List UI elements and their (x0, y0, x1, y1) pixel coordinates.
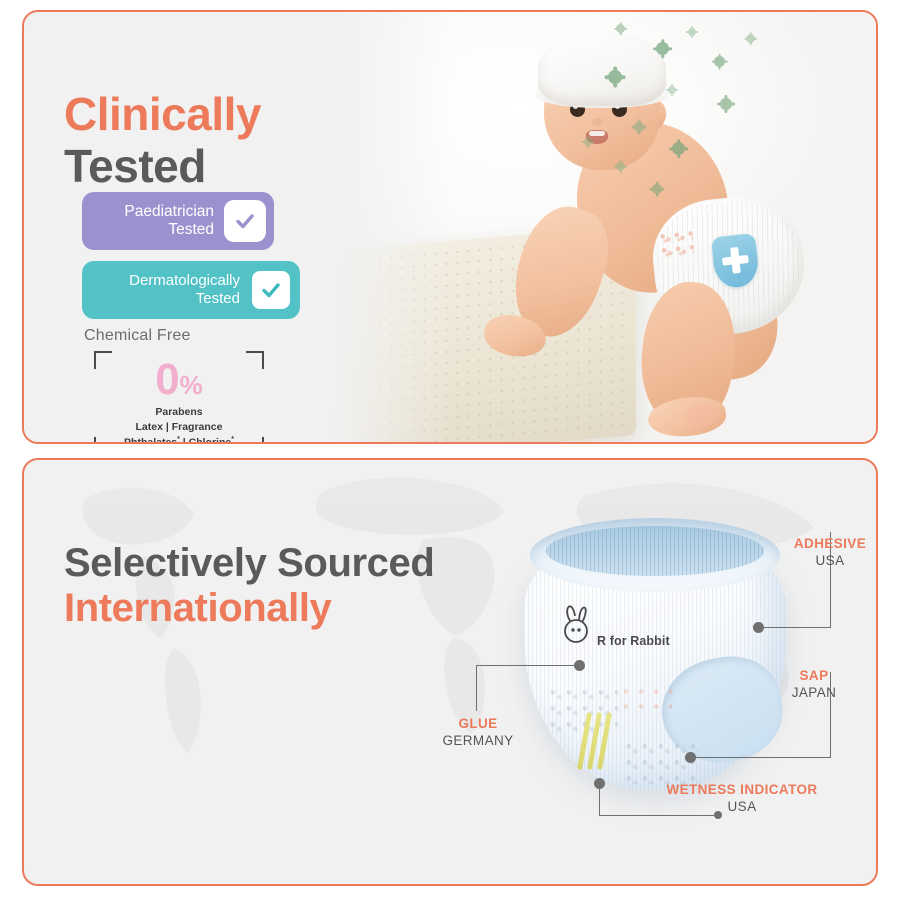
page-title: Clinically Tested (64, 91, 261, 189)
bracket-corner-icon (94, 437, 112, 444)
chemical-item-line-1: Parabens (90, 405, 268, 420)
callout-dot-adhesive (753, 622, 764, 633)
germ-particles (714, 56, 725, 67)
diaper-print (658, 228, 695, 259)
pant-waistband (530, 518, 780, 592)
callout-line-glue (476, 665, 576, 666)
chemical-phthalates: Phthalates (124, 437, 177, 444)
germ-particles (672, 142, 685, 155)
chemical-item-line-3: Phthalates* | Chlorine* (90, 435, 268, 444)
callout-country: GERMANY (406, 733, 550, 748)
brand-logo: R for Rabbit (560, 604, 670, 648)
chemical-item-line-2: Latex | Fragrance (90, 420, 268, 435)
pant-print-pattern (620, 684, 672, 718)
baby-hat (538, 32, 666, 106)
bracket-corner-icon (246, 437, 264, 444)
zero-percent: 0% (90, 359, 268, 401)
callout-sap: SAP JAPAN (754, 668, 874, 700)
baby-figure (466, 30, 836, 438)
germ-particles (688, 28, 696, 36)
callout-glue: GLUE GERMANY (406, 716, 550, 748)
callout-title: GLUE (406, 716, 550, 731)
chemical-chlorine: | Chlorine (180, 437, 231, 444)
germ-particles (634, 122, 644, 132)
pant-waist-inner (546, 526, 764, 576)
callout-dot-sap (685, 752, 696, 763)
clinical-content: Clinically Tested Paediatrician Tested D… (24, 12, 454, 442)
asterisk-marker: * (231, 436, 234, 443)
check-icon (250, 269, 292, 311)
chemical-list: Parabens Latex | Fragrance Phthalates* |… (90, 405, 268, 444)
check-icon (224, 200, 266, 242)
chemical-free-bracket-box: 0% Parabens Latex | Fragrance Phthalates… (84, 351, 274, 444)
callout-country: USA (760, 553, 878, 568)
badge-label: Dermatologically Tested (98, 272, 250, 307)
callout-country: USA (622, 799, 862, 814)
callout-line-wetness (599, 815, 719, 816)
title-line-2: Tested (64, 143, 261, 189)
badge-label: Paediatrician Tested (98, 203, 224, 240)
bracket-corner-icon (94, 351, 112, 369)
marketing-page: Clinically Tested Paediatrician Tested D… (0, 0, 900, 900)
callout-country: JAPAN (754, 685, 874, 700)
germ-particles (656, 42, 669, 55)
diaper-pant-illustration: R for Rabbit (504, 508, 804, 808)
section-title-line-2: Internationally (64, 586, 434, 631)
callout-dot-wetness (594, 778, 605, 789)
callout-title: ADHESIVE (760, 536, 878, 551)
germ-particles (584, 138, 592, 146)
badge-paediatrician-tested: Paediatrician Tested (82, 192, 274, 250)
callout-line-glue-vertical (476, 665, 477, 711)
panel-clinically-tested: Clinically Tested Paediatrician Tested D… (22, 10, 878, 444)
callout-wetness-indicator: WETNESS INDICATOR USA (622, 782, 862, 814)
panel-selectively-sourced: Selectively Sourced Internationally (22, 458, 878, 886)
section-title: Selectively Sourced Internationally (64, 541, 434, 631)
callout-adhesive: ADHESIVE USA (760, 536, 878, 568)
percent-sign: % (180, 370, 203, 400)
callout-line-adhesive (764, 627, 830, 628)
callout-line-sap (696, 757, 830, 758)
chemical-free-block: Chemical Free 0% Parabens Latex | Fragra… (84, 327, 274, 444)
germ-particles (720, 98, 732, 110)
germ-particles (652, 184, 662, 194)
callout-title: SAP (754, 668, 874, 683)
germ-particles (668, 86, 676, 94)
germ-particles (746, 34, 755, 43)
brand-name: R for Rabbit (597, 634, 670, 648)
pant-waist-ribbing (546, 526, 764, 576)
germ-particles (616, 162, 625, 171)
title-line-1: Clinically (64, 91, 261, 137)
callout-title: WETNESS INDICATOR (622, 782, 862, 797)
germ-particles (616, 24, 625, 33)
callout-line-wetness-vertical (599, 789, 600, 815)
section-title-line-1: Selectively Sourced (64, 541, 434, 586)
rabbit-logo (560, 604, 594, 648)
bracket-corner-icon (246, 351, 264, 369)
germ-particles (608, 70, 622, 84)
chemical-free-title: Chemical Free (84, 327, 274, 345)
baby-nose (592, 118, 603, 126)
badge-dermatologically-tested: Dermatologically Tested (82, 261, 300, 319)
zero-number: 0 (155, 355, 179, 404)
